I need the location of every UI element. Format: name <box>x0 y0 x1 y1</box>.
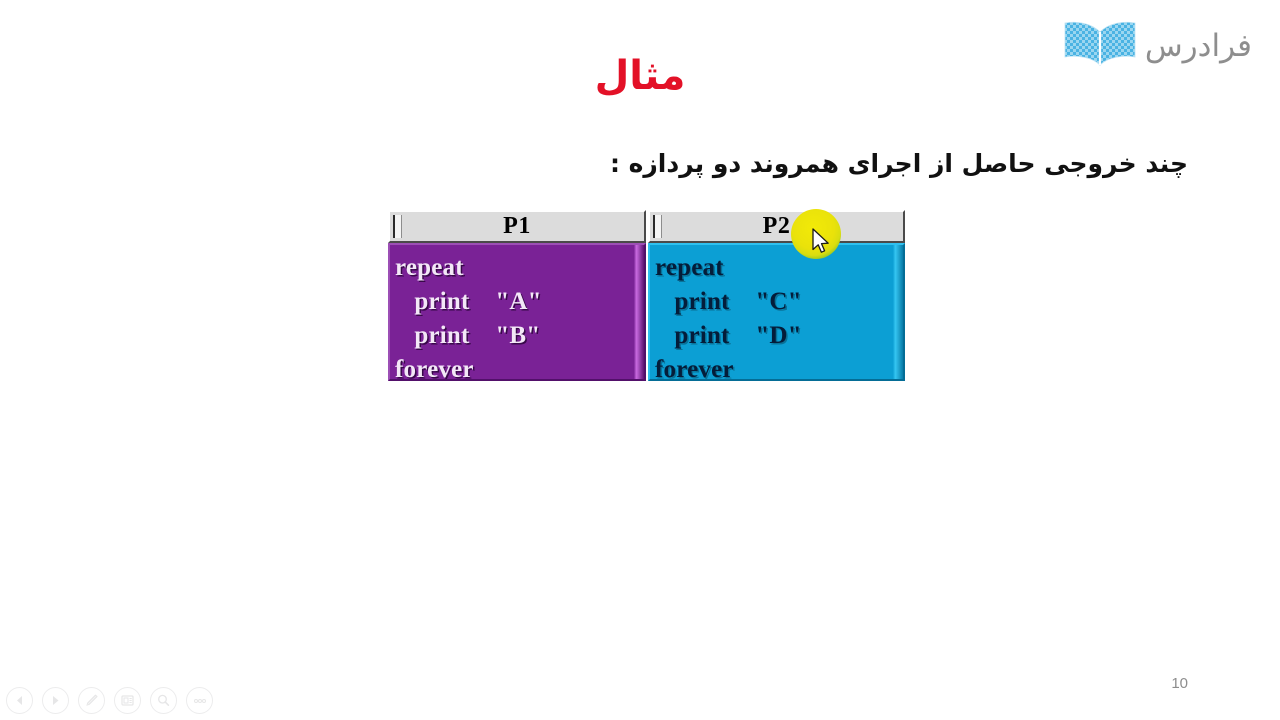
page-title: مثال <box>0 54 1280 98</box>
code-line: print "A" <box>395 285 644 319</box>
ellipsis-icon <box>192 696 208 706</box>
slide-subtitle: چند خروجی حاصل از اجرای همروند دو پردازه… <box>610 148 1188 179</box>
process-box-p2: P2 repeat print "C" print "D" forever <box>648 210 905 381</box>
page-number: 10 <box>1171 675 1188 692</box>
process-titlebar-p2: P2 <box>648 210 905 243</box>
zoom-button[interactable] <box>150 687 177 714</box>
play-button[interactable] <box>42 687 69 714</box>
process-box-p1: P1 repeat print "A" print "B" forever <box>388 210 646 381</box>
process-titlebar-p1: P1 <box>388 210 646 243</box>
presentation-slide: فرادرس مثال چند خروجی حاصل از اجرای همرو… <box>0 0 1280 720</box>
triangle-right-icon <box>49 694 62 707</box>
more-button[interactable] <box>186 687 213 714</box>
code-line: repeat <box>395 251 644 285</box>
magnifier-icon <box>156 693 171 708</box>
code-line: print "C" <box>655 285 903 319</box>
slideshow-button[interactable] <box>114 687 141 714</box>
annotate-button[interactable] <box>78 687 105 714</box>
code-line: repeat <box>655 251 903 285</box>
process-title-label-p1: P1 <box>503 214 531 238</box>
code-line: print "B" <box>395 319 644 353</box>
player-toolbar <box>6 687 213 714</box>
process-code-body-p2: repeat print "C" print "D" forever <box>648 243 905 381</box>
process-title-label-p2: P2 <box>763 214 791 238</box>
code-line: forever <box>655 353 903 381</box>
code-line: forever <box>395 353 644 381</box>
process-code-body-p1: repeat print "A" print "B" forever <box>388 243 646 381</box>
previous-button[interactable] <box>6 687 33 714</box>
process-boxes-container: P1 repeat print "A" print "B" forever P2… <box>388 210 905 381</box>
code-line: print "D" <box>655 319 903 353</box>
triangle-left-icon <box>13 694 26 707</box>
pencil-icon <box>84 693 99 708</box>
presentation-screen-icon <box>120 693 135 708</box>
